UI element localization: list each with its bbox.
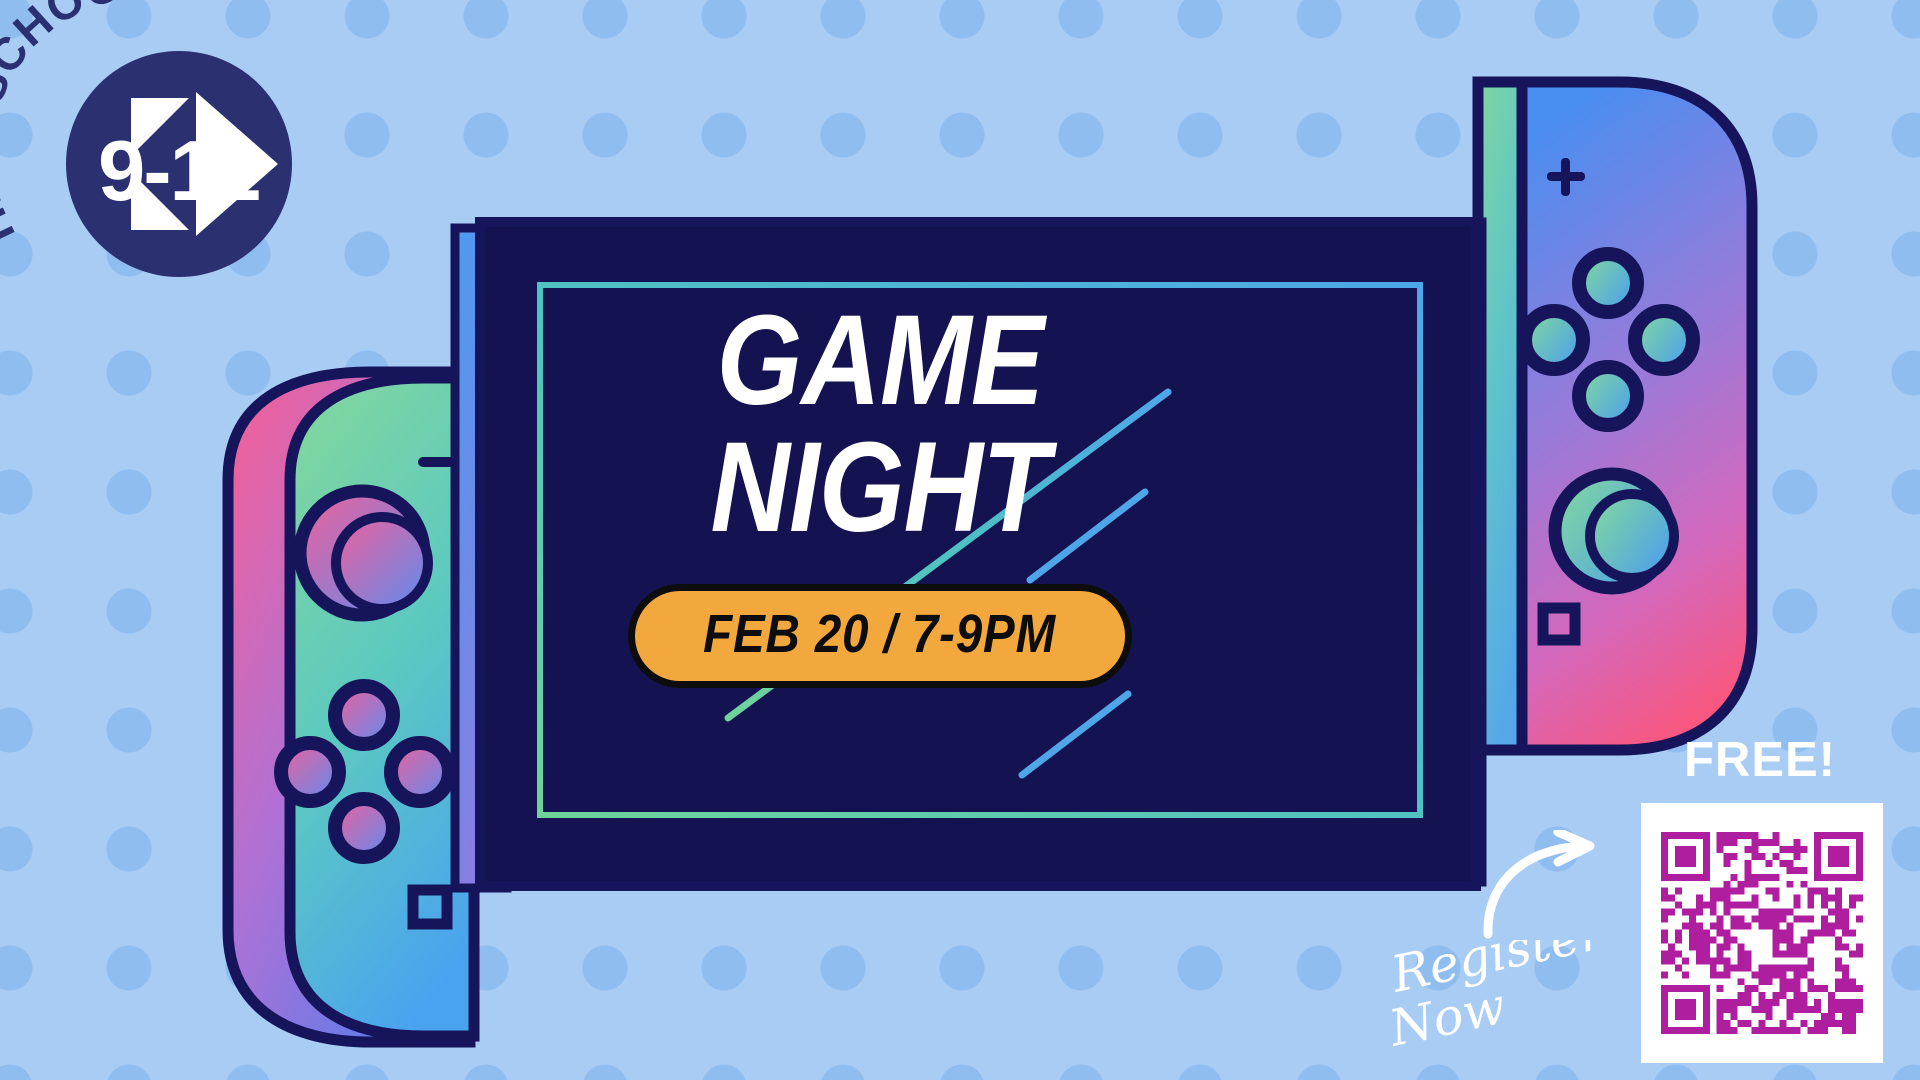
right-analog-stick [1555, 474, 1674, 588]
left-analog-stick [300, 491, 428, 615]
right-joycon [1478, 82, 1752, 750]
badge-grade-range: 9-12 [98, 124, 260, 219]
register-now-script: Register Now [1390, 940, 1640, 1060]
qr-code-card[interactable] [1641, 803, 1883, 1063]
qr-code-image [1661, 823, 1863, 1043]
console-screen-body [480, 222, 1476, 886]
high-school-badge: HIGH SCHOOL 9-12 [0, 0, 360, 340]
curved-arrow-icon [1480, 830, 1610, 940]
free-label: FREE! [1640, 736, 1880, 785]
poster-canvas: GAME NIGHT FEB 20 / 7-9PM HIGH SCHOOL 9-… [0, 0, 1920, 1080]
left-joycon [228, 372, 474, 1042]
